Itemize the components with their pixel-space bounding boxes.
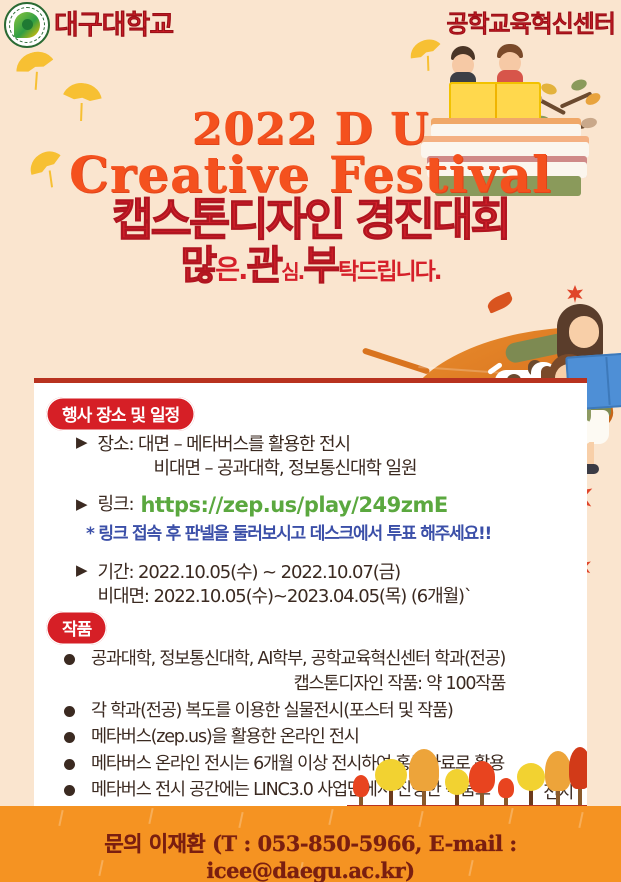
tree-icon [545,751,571,805]
works-item-right: 캡스톤디자인 작품: 약 100작품 [91,672,505,697]
works-item-text: 각 학과(전공) 복도를 이용한 실물전시(포스터 및 작품) [91,699,453,724]
tree-icon [515,759,547,805]
arrow-marker-icon: ▶ [76,495,88,515]
row-link[interactable]: ▶ 링크: https://zep.us/play/249zmE [76,493,448,517]
link-label: 링크: [98,493,134,517]
poster-title: 2022 D U Creative Festival 캡스톤디자인 경진대회 많… [0,108,621,287]
place-line-2: 비대면 – 공과대학, 정보통신대학 일원 [98,457,417,481]
autumn-trees-illustration [347,749,587,811]
badge-schedule: 행사 장소 및 일정 [46,397,195,431]
tree-icon [443,765,471,805]
list-item: 각 학과(전공) 복도를 이용한 실물전시(포스터 및 작품) [58,699,578,724]
badge-works: 작품 [46,611,107,645]
poster-canvas: 대구대학교 공학교육혁신센터 [0,0,621,882]
title-l4-big1: 많 [180,243,215,289]
title-l4-big2: 관 [246,243,281,289]
ginkgo-leaf-icon [12,47,61,92]
title-line-4: 많은.관심.부탁드립니다. [0,245,621,287]
footer-band: 문의 이재환 (T : 053-850-5966, E-mail : icee@… [0,806,621,882]
list-item: 메타버스(zep.us)을 활용한 온라인 전시 [58,725,578,750]
title-l4-sm1: 심. [281,260,303,284]
tree-icon [469,759,495,805]
place-line-1: 장소: 대면 – 메타버스를 활용한 전시 [98,434,350,455]
bullet-icon [64,785,75,796]
daegu-university-logo [4,2,50,48]
arrow-marker-icon: ▶ [76,433,88,453]
bullet-icon [64,732,75,743]
bullet-icon [64,706,75,717]
works-item-text: 메타버스(zep.us)을 활용한 온라인 전시 [91,725,359,750]
works-item-main: 공과대학, 정보통신대학, AI학부, 공학교육혁신센터 학과(전공) [91,649,505,669]
place-text: 장소: 대면 – 메타버스를 활용한 전시비대면 – 공과대학, 정보통신대학 … [98,433,417,482]
period-text: 기간: 2022.10.05(수) ~ 2022.10.07(금)비대면: 20… [98,561,472,610]
works-item-text: 공과대학, 정보통신대학, AI학부, 공학교육혁신센터 학과(전공)캡스톤디자… [91,647,505,698]
period-line-2: 비대면: 2022.10.05(수)~2023.04.05(목) (6개월)` [98,585,472,609]
period-line-1: 기간: 2022.10.05(수) ~ 2022.10.07(금) [98,562,400,583]
leaf-stem [362,347,430,374]
tree-icon [569,747,587,805]
row-place: ▶ 장소: 대면 – 메타버스를 활용한 전시비대면 – 공과대학, 정보통신대… [76,433,416,482]
tree-icon [497,777,515,805]
contact-footer: 문의 이재환 (T : 053-850-5966, E-mail : icee@… [0,828,621,882]
tree-icon [409,749,439,805]
zep-link-url[interactable]: https://zep.us/play/249zmE [140,493,447,517]
link-note: * 링크 접속 후 판넬을 둘러보시고 데스크에서 투표 해주세요!! [86,519,491,544]
bullet-icon [64,759,75,770]
info-card: 행사 장소 및 일정 ▶ 장소: 대면 – 메타버스를 활용한 전시비대면 – … [34,378,587,816]
arrow-marker-icon: ▶ [76,561,88,581]
row-period: ▶ 기간: 2022.10.05(수) ~ 2022.10.07(금)비대면: … [76,561,472,610]
list-item: 공과대학, 정보통신대학, AI학부, 공학교육혁신센터 학과(전공)캡스톤디자… [58,647,578,698]
title-l4-tail: 탁드립니다. [338,259,441,285]
bullet-icon [64,654,75,665]
title-l4-mid1: 은. [215,255,246,286]
tree-icon [351,775,371,805]
university-name: 대구대학교 [54,3,173,42]
tree-icon [373,755,409,805]
title-l4-big3: 부 [303,243,338,289]
